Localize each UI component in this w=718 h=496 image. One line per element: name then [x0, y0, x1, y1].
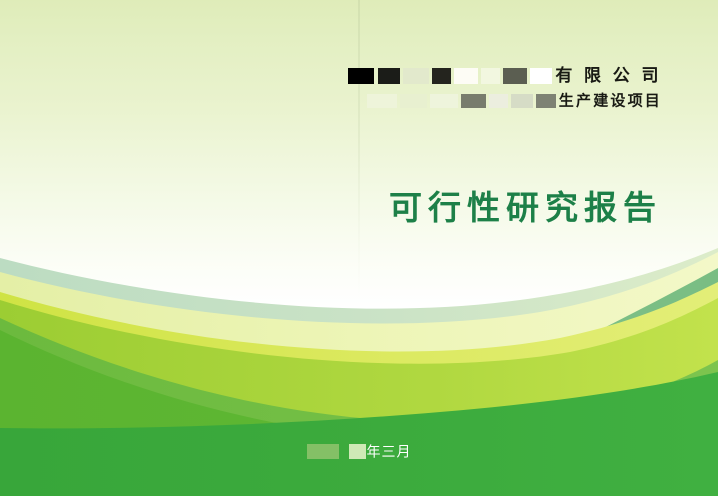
redaction-block-11: [430, 94, 458, 108]
project-name-line: 生产建设项目: [0, 93, 662, 109]
date-redaction-1: [307, 444, 339, 459]
report-title: 可行性研究报告: [0, 188, 662, 228]
header-text-block: 有 限 公 司 生产建设项目: [0, 66, 662, 109]
redaction-block-8: [530, 68, 552, 84]
report-cover-page: 有 限 公 司 生产建设项目 可行性研究报告 年三月: [0, 0, 718, 496]
redaction-block-15: [536, 94, 556, 108]
redaction-block-1: [348, 68, 374, 84]
date-redaction-2: [349, 444, 366, 459]
redaction-block-6: [481, 68, 500, 84]
redaction-block-3: [403, 68, 429, 84]
redaction-block-4: [432, 68, 451, 84]
company-suffix-text: 有 限 公 司: [555, 66, 662, 85]
redaction-block-9: [367, 94, 397, 108]
redaction-block-10: [400, 94, 427, 108]
project-suffix-text: 生产建设项目: [559, 93, 662, 110]
redaction-block-2: [378, 68, 400, 84]
redaction-block-7: [503, 68, 527, 84]
redaction-block-12: [461, 94, 486, 108]
company-name-line: 有 限 公 司: [0, 66, 662, 84]
date-text: 年三月: [367, 443, 412, 459]
redaction-block-5: [454, 68, 478, 84]
page-fold-line: [358, 0, 360, 300]
footer-date: 年三月: [0, 443, 718, 459]
redaction-block-14: [511, 94, 533, 108]
redaction-block-13: [489, 94, 508, 108]
